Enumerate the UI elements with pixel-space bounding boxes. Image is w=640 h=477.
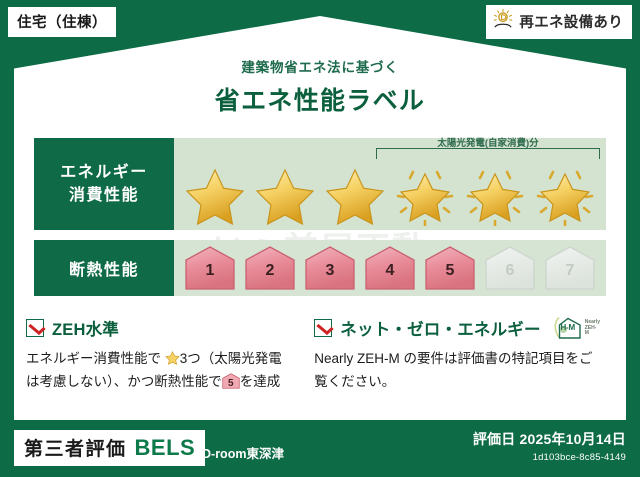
sun-solar-icon xyxy=(492,8,514,35)
house-icon-inline: 5 xyxy=(222,373,240,389)
zehm-house-icon: H-M xyxy=(553,316,583,340)
house-icon-inactive: 6 xyxy=(484,245,536,291)
house-icon: 1 xyxy=(184,245,236,291)
page-title: 省エネ性能ラベル xyxy=(0,81,640,117)
insulation-performance-label: 断熱性能 xyxy=(34,240,174,296)
insulation-grade-value: 4 xyxy=(364,262,416,280)
energy-label-line1: エネルギー xyxy=(60,161,148,184)
zehm-caption-line2: ZEH-M xyxy=(585,325,597,337)
zeh-body-post: を達成 xyxy=(240,374,281,389)
solar-range-bracket xyxy=(376,148,600,159)
zeh-body-pre: エネルギー消費性能で xyxy=(26,351,161,366)
panel-zeh-standard-body: エネルギー消費性能で 3つ（太陽光発電は考慮しない）、かつ断熱性能で5を達成 xyxy=(26,348,284,393)
star-icon-solar xyxy=(533,164,597,226)
star-icon-solar xyxy=(393,164,457,226)
insulation-grade-value: 3 xyxy=(304,262,356,280)
evaluation-info: 評価日 2025年10月14日 1d103bce-8c85-4149 xyxy=(473,429,626,463)
nearly-zehm-logo: H-M Nearly ZEH-M xyxy=(553,316,600,340)
house-icon-inactive: 7 xyxy=(544,245,596,291)
panel-net-zero-energy: ネット・ゼロ・エネルギー H-M Nearly ZEH-M Nearly ZEH… xyxy=(298,316,614,393)
house-icon: 4 xyxy=(364,245,416,291)
inline-grade-value: 5 xyxy=(222,376,240,389)
property-name: D-room東深津 xyxy=(202,443,284,462)
panel-net-zero-energy-title: ネット・ゼロ・エネルギー xyxy=(340,316,540,340)
insulation-grade-list: 1 2 3 4 5 6 7 xyxy=(174,240,606,296)
bels-certification-badge: 第三者評価 BELS xyxy=(14,430,205,466)
evaluation-uid: 1d103bce-8c85-4149 xyxy=(473,452,626,463)
third-party-label: 第三者評価 xyxy=(24,434,127,461)
insulation-grade-value: 2 xyxy=(244,262,296,280)
house-icon: 2 xyxy=(244,245,296,291)
insulation-grade-value: 1 xyxy=(184,262,236,280)
insulation-grade-meter: 1 2 3 4 5 6 7 xyxy=(174,240,606,296)
zehm-mark-text: H-M xyxy=(553,323,583,332)
star-icon xyxy=(183,164,247,226)
panel-zeh-standard: ZEH水準 エネルギー消費性能で 3つ（太陽光発電は考慮しない）、かつ断熱性能で… xyxy=(26,316,298,393)
renewable-equipment-badge: 再エネ設備あり xyxy=(486,5,632,39)
star-icon xyxy=(253,164,317,226)
star-icon xyxy=(323,164,387,226)
footer: 第三者評価 BELS D-room東深津 評価日 2025年10月14日 1d1… xyxy=(0,420,640,477)
criteria-panels: ZEH水準 エネルギー消費性能で 3つ（太陽光発電は考慮しない）、かつ断熱性能で… xyxy=(26,316,614,393)
star-icon-inline xyxy=(165,350,180,365)
insulation-grade-value: 6 xyxy=(484,262,536,280)
dwelling-type-label: 住宅（住棟） xyxy=(17,15,107,31)
dwelling-type-tag: 住宅（住棟） xyxy=(8,7,116,37)
checkmark-icon xyxy=(26,319,44,337)
zehm-logo-caption: Nearly ZEH-M xyxy=(585,320,600,340)
energy-performance-meter: 太陽光発電(自家消費)分 xyxy=(174,138,606,230)
energy-label-line2: 消費性能 xyxy=(69,184,139,207)
page-heading: 建築物省エネ法に基づく 省エネ性能ラベル xyxy=(0,56,640,117)
insulation-grade-value: 7 xyxy=(544,262,596,280)
insulation-grade-value: 5 xyxy=(424,262,476,280)
energy-performance-label: エネルギー 消費性能 xyxy=(34,138,174,230)
panel-net-zero-energy-header: ネット・ゼロ・エネルギー H-M Nearly ZEH-M xyxy=(314,316,600,340)
renewable-equipment-label: 再エネ設備あり xyxy=(519,11,623,32)
panel-zeh-standard-title: ZEH水準 xyxy=(52,316,119,340)
evaluation-date: 評価日 2025年10月14日 xyxy=(473,429,626,449)
panel-net-zero-energy-body: Nearly ZEH-M の要件は評価書の特記項目をご覧ください。 xyxy=(314,348,600,393)
panel-zeh-standard-header: ZEH水準 xyxy=(26,316,284,340)
house-icon: 3 xyxy=(304,245,356,291)
star-rating xyxy=(174,164,606,226)
solar-generation-note: 太陽光発電(自家消費)分 xyxy=(374,135,602,149)
bels-label: BELS xyxy=(135,435,196,461)
insulation-label-text: 断熱性能 xyxy=(69,256,139,280)
insulation-performance-row: 断熱性能 1 2 3 xyxy=(34,240,606,296)
heading-subtitle: 建築物省エネ法に基づく xyxy=(0,56,640,76)
star-icon-solar xyxy=(463,164,527,226)
house-icon: 5 xyxy=(424,245,476,291)
energy-performance-row: エネルギー 消費性能 太陽光発電(自家消費)分 xyxy=(34,138,606,230)
checkmark-icon xyxy=(314,319,332,337)
